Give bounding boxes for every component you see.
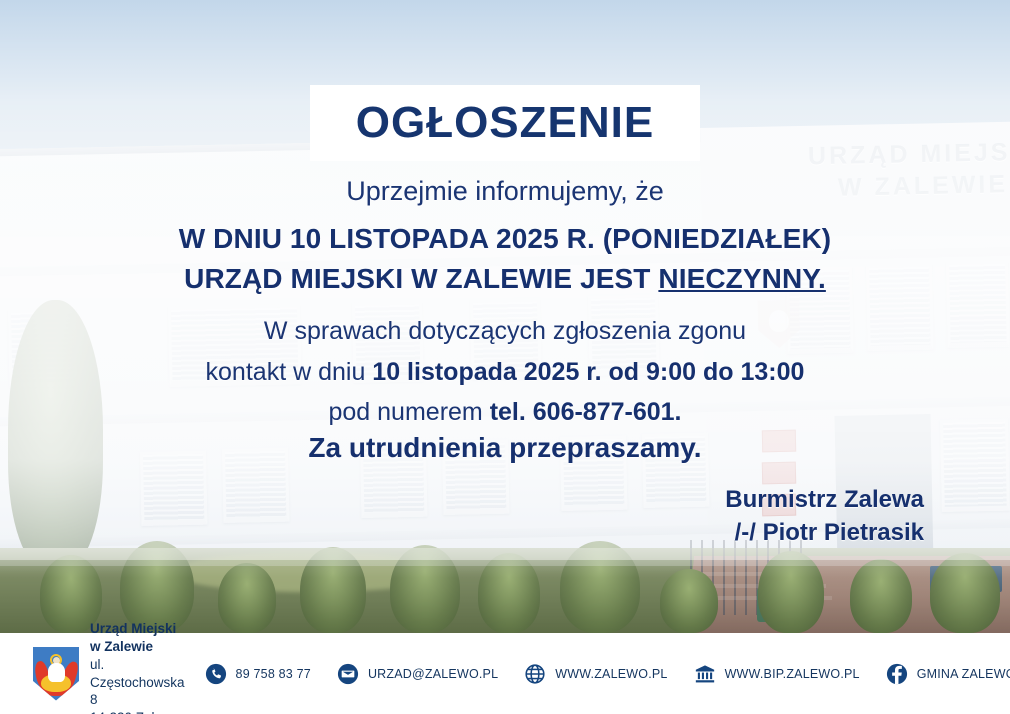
contact-list: 89 758 83 77 URZAD@ZALEWO.PL WWW.ZALEWO.… xyxy=(205,663,1010,685)
contact-paragraph: W sprawach dotyczących zgłoszenia zgonu … xyxy=(0,311,1010,433)
contact-date-hours: 10 listopada 2025 r. od 9:00 do 13:00 xyxy=(372,358,804,386)
contact-line-2-prefix: kontakt w dniu xyxy=(206,358,373,386)
phone-icon xyxy=(205,663,227,685)
signature-name: /-/ Piotr Pietrasik xyxy=(725,516,924,549)
footer-bar: Urząd Miejski w Zalewie ul. Częstochowsk… xyxy=(0,633,1010,714)
organization-city: 14-230 Zalewo xyxy=(90,709,185,714)
contact-line-3: pod numerem tel. 606-877-601. xyxy=(0,392,1010,433)
envelope-icon xyxy=(337,663,359,685)
contact-line-3-prefix: pod numerem xyxy=(329,398,490,426)
contact-bip-label: WWW.BIP.ZALEWO.PL xyxy=(725,667,860,681)
headline-block: W DNIU 10 LISTOPADA 2025 R. (PONIEDZIAŁE… xyxy=(0,219,1010,299)
contact-facebook[interactable]: GMINA ZALEWO xyxy=(886,663,1010,685)
contact-line-2: kontakt w dniu 10 listopada 2025 r. od 9… xyxy=(0,352,1010,393)
page-title: OGŁOSZENIE xyxy=(356,101,654,145)
contact-phone-number: tel. 606-877-601. xyxy=(490,398,682,426)
organization-block: Urząd Miejski w Zalewie ul. Częstochowsk… xyxy=(33,620,185,714)
organization-street: ul. Częstochowska 8 xyxy=(90,656,185,710)
headline-closed-emphasis: NIECZYNNY. xyxy=(658,263,825,294)
headline-line-2-prefix: URZĄD MIEJSKI W ZALEWIE JEST xyxy=(184,263,658,294)
apology-text: Za utrudnienia przepraszamy. xyxy=(0,432,1010,464)
globe-icon xyxy=(524,663,546,685)
contact-website-label: WWW.ZALEWO.PL xyxy=(555,667,667,681)
poster-content: OGŁOSZENIE Uprzejmie informujemy, że W D… xyxy=(0,0,1010,633)
announcement-poster: URZĄD MIEJSKI W ZALEWIE xyxy=(0,0,1010,714)
bank-icon xyxy=(694,663,716,685)
lead-text: Uprzejmie informujemy, że xyxy=(0,176,1010,207)
signature-title: Burmistrz Zalewa xyxy=(725,483,924,516)
coat-of-arms-icon xyxy=(33,647,79,701)
headline-line-1: W DNIU 10 LISTOPADA 2025 R. (PONIEDZIAŁE… xyxy=(0,219,1010,259)
contact-email[interactable]: URZAD@ZALEWO.PL xyxy=(337,663,498,685)
contact-bip[interactable]: WWW.BIP.ZALEWO.PL xyxy=(694,663,860,685)
headline-line-2: URZĄD MIEJSKI W ZALEWIE JEST NIECZYNNY. xyxy=(0,259,1010,299)
contact-phone[interactable]: 89 758 83 77 xyxy=(205,663,311,685)
signature-block: Burmistrz Zalewa /-/ Piotr Pietrasik xyxy=(725,483,924,549)
organization-address: Urząd Miejski w Zalewie ul. Częstochowsk… xyxy=(90,620,185,714)
title-banner: OGŁOSZENIE xyxy=(310,85,700,161)
contact-facebook-label: GMINA ZALEWO xyxy=(917,667,1010,681)
contact-email-label: URZAD@ZALEWO.PL xyxy=(368,667,498,681)
contact-phone-label: 89 758 83 77 xyxy=(236,667,311,681)
contact-website[interactable]: WWW.ZALEWO.PL xyxy=(524,663,667,685)
contact-line-1: W sprawach dotyczących zgłoszenia zgonu xyxy=(0,311,1010,352)
facebook-icon xyxy=(886,663,908,685)
